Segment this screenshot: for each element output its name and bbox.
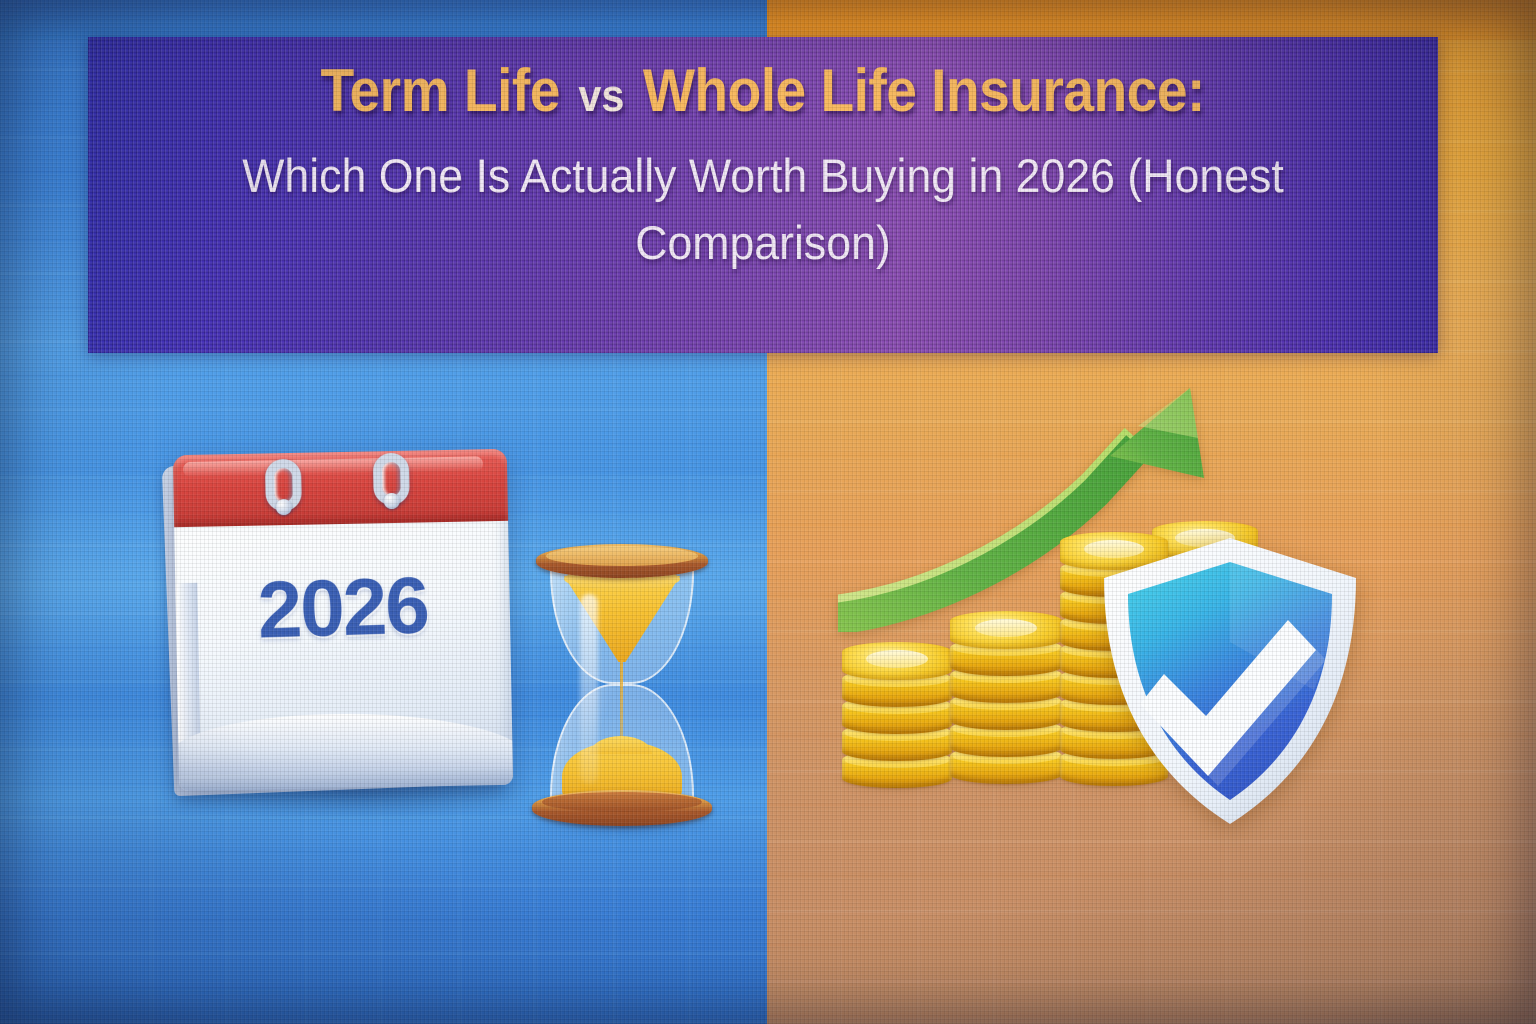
calendar-year-label: 2026: [174, 557, 511, 659]
shield-check-icon: [1092, 532, 1368, 832]
calendar-body: 2026: [173, 449, 513, 791]
hourglass-top-cap-face: [546, 546, 698, 566]
title-term-life: Term Life: [321, 57, 560, 124]
hourglass-glass: [550, 560, 694, 808]
title-banner: Term Life vs Whole Life Insurance: Which…: [88, 37, 1438, 353]
coin-top-face: [842, 642, 952, 680]
page-subtitle: Which One Is Actually Worth Buying in 20…: [226, 143, 1300, 276]
poster-canvas: Term Life vs Whole Life Insurance: Which…: [0, 0, 1536, 1024]
title-whole-life: Whole Life Insurance:: [643, 57, 1205, 124]
calendar-icon: 2026: [160, 430, 540, 825]
coin-stack: [950, 611, 1062, 784]
hourglass-glass-highlight: [580, 594, 598, 784]
calendar-header-highlight: [183, 456, 483, 477]
hourglass-icon: [528, 538, 718, 838]
title-vs: vs: [579, 70, 625, 121]
coin-top-face: [950, 611, 1062, 649]
top-strip-left: [0, 0, 767, 40]
top-strip-right: [767, 0, 1536, 40]
calendar-page: 2026: [174, 517, 513, 791]
hourglass-sand-stream: [620, 660, 623, 738]
hourglass-top-cap: [536, 544, 708, 578]
calendar-header-bar: [173, 449, 508, 527]
page-title: Term Life vs Whole Life Insurance:: [321, 61, 1205, 121]
hourglass-bottom-cap: [532, 790, 712, 826]
hourglass-bottom-cap-face: [542, 792, 702, 812]
coin-stack: [842, 642, 952, 788]
